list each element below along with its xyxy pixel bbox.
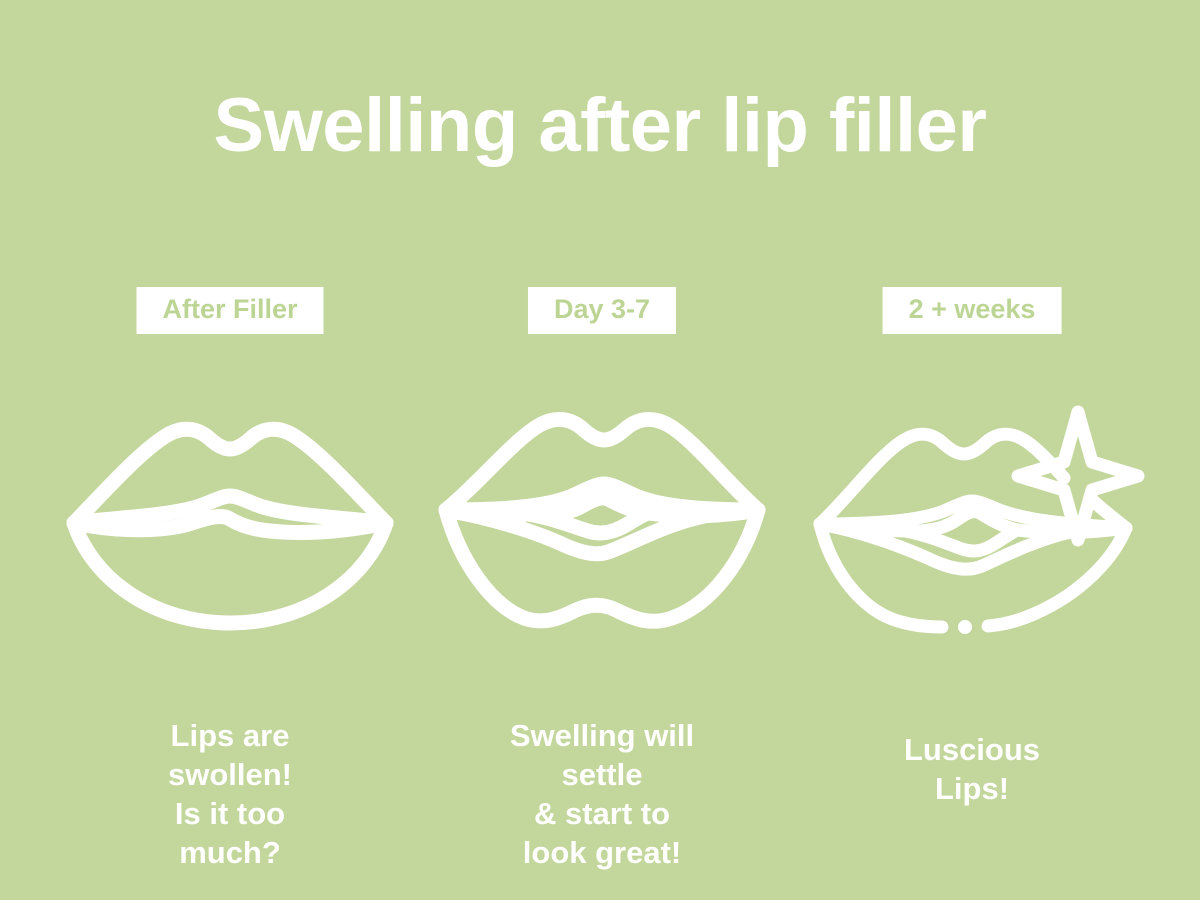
- stage-badge-after-filler: After Filler: [136, 287, 323, 334]
- stage-badge-day-3-7: Day 3-7: [528, 287, 676, 334]
- stage-column-day-3-7: Day 3-7: [402, 0, 802, 900]
- stage-badge-2-plus-weeks: 2 + weeks: [883, 287, 1062, 334]
- settling-lips-icon: [432, 392, 772, 642]
- sparkling-lips-icon: [802, 392, 1142, 642]
- swollen-lips-icon: [60, 392, 400, 642]
- stage-caption-after-filler: Lips are swollen! Is it too much?: [130, 716, 330, 872]
- stage-caption-2-plus-weeks: Luscious Lips!: [872, 730, 1072, 808]
- infographic-canvas: Swelling after lip filler After Filler: [0, 0, 1200, 900]
- stage-caption-day-3-7: Swelling will settle & start to look gre…: [502, 716, 702, 872]
- stage-columns: After Filler Lips are swollen! Is it too…: [0, 0, 1200, 900]
- stage-column-2-plus-weeks: 2 + weeks: [772, 0, 1172, 900]
- stage-column-after-filler: After Filler Lips are swollen! Is it too…: [30, 0, 430, 900]
